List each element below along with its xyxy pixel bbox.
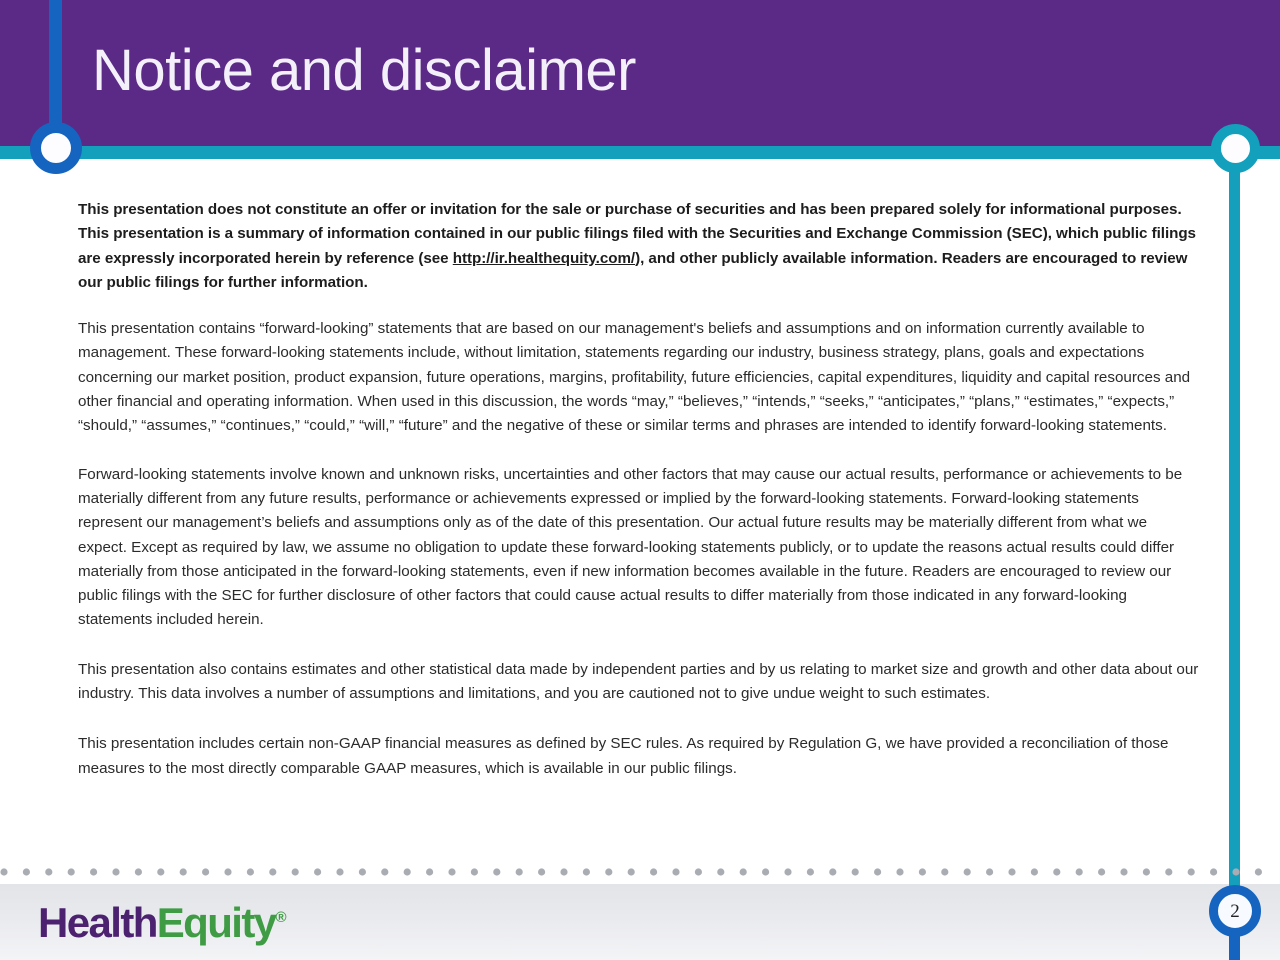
page-title: Notice and disclaimer (92, 36, 636, 106)
left-circle-decoration (30, 122, 82, 174)
header-accent-bar (0, 146, 1280, 159)
disclaimer-paragraph-1: This presentation does not constitute an… (78, 198, 1200, 295)
page-number-text: 2 (1230, 902, 1240, 921)
disclaimer-body: This presentation does not constitute an… (78, 198, 1200, 781)
investor-relations-link[interactable]: http://ir.healthequity.com/ (453, 250, 635, 267)
disclaimer-paragraph-2: This presentation contains “forward-look… (78, 317, 1200, 438)
left-vertical-accent-line (49, 0, 62, 140)
disclaimer-paragraph-4: This presentation also contains estimate… (78, 658, 1200, 707)
logo-text-health: Health (38, 899, 157, 946)
footer-dotted-divider (0, 866, 1280, 878)
healthequity-logo: HealthEquity® (38, 894, 287, 947)
slide-root: Notice and disclaimer This presentation … (0, 0, 1280, 960)
logo-registered-mark: ® (276, 909, 287, 926)
disclaimer-paragraph-3: Forward-looking statements involve known… (78, 463, 1200, 633)
disclaimer-paragraph-5: This presentation includes certain non-G… (78, 732, 1200, 781)
right-vertical-accent-line (1229, 160, 1240, 905)
logo-text-equity: Equity (157, 899, 276, 946)
right-circle-decoration (1211, 124, 1260, 173)
page-number-badge: 2 (1209, 885, 1261, 937)
